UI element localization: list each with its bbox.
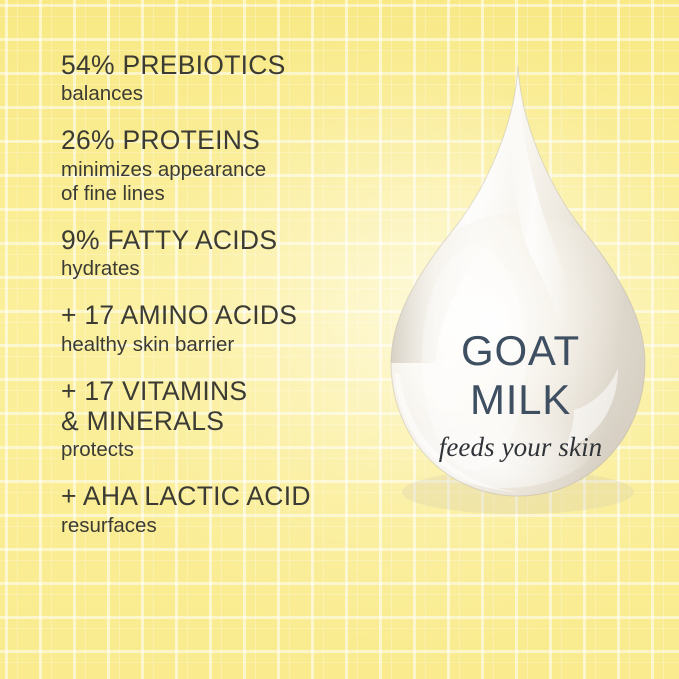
benefit-item-vitamins-minerals: + 17 VITAMINS & MINERALS protects	[61, 376, 391, 463]
benefit-headline: 26% PROTEINS	[61, 125, 391, 155]
benefit-description: minimizes appearance of fine lines	[61, 158, 391, 206]
benefit-headline: + 17 AMINO ACIDS	[61, 300, 391, 330]
benefit-item-proteins: 26% PROTEINS minimizes appearance of fin…	[61, 125, 391, 206]
benefit-headline: + AHA LACTIC ACID	[61, 481, 391, 511]
benefit-item-aha-lactic-acid: + AHA LACTIC ACID resurfaces	[61, 481, 391, 537]
milk-droplet-graphic: GOAT MILK feeds your skin	[378, 58, 663, 558]
benefit-description: protects	[61, 438, 391, 462]
benefit-item-fatty-acids: 9% FATTY ACIDS hydrates	[61, 225, 391, 281]
benefit-headline: 9% FATTY ACIDS	[61, 225, 391, 255]
benefit-description: hydrates	[61, 257, 391, 281]
product-infographic: 54% PREBIOTICS balances 26% PROTEINS min…	[0, 0, 679, 679]
benefit-item-prebiotics: 54% PREBIOTICS balances	[61, 50, 391, 106]
droplet-icon	[378, 58, 663, 558]
benefit-headline: 54% PREBIOTICS	[61, 50, 391, 80]
benefit-item-amino-acids: + 17 AMINO ACIDS healthy skin barrier	[61, 300, 391, 356]
benefits-list: 54% PREBIOTICS balances 26% PROTEINS min…	[61, 50, 391, 538]
benefit-description: balances	[61, 82, 391, 106]
benefit-description: healthy skin barrier	[61, 333, 391, 357]
benefit-description: resurfaces	[61, 514, 391, 538]
benefit-headline: + 17 VITAMINS & MINERALS	[61, 376, 391, 436]
